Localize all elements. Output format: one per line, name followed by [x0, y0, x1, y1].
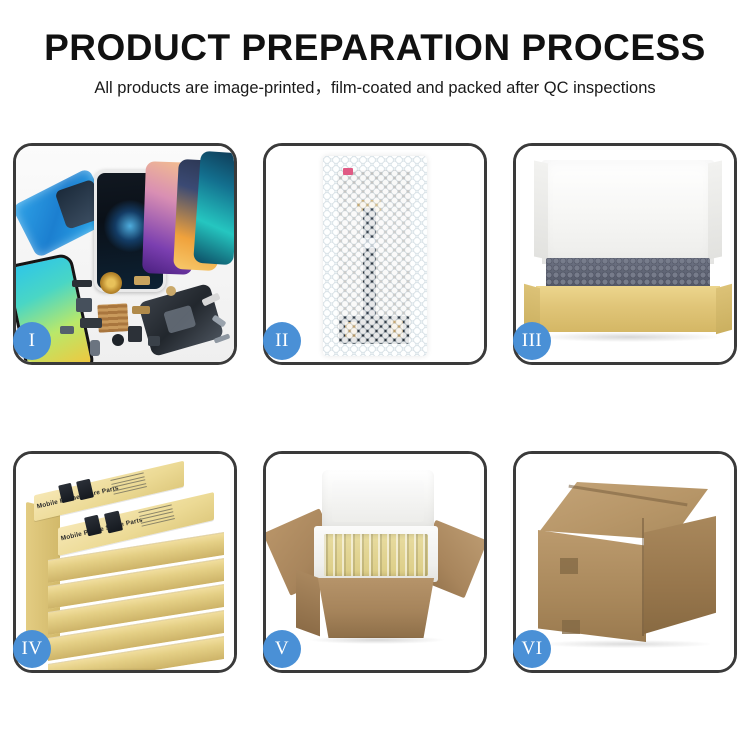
small-part-icon — [112, 334, 124, 346]
step-number-badge-2: II — [263, 322, 301, 360]
process-step-panel-6: VI — [513, 451, 737, 673]
small-part-icon — [72, 280, 92, 287]
small-part-icon — [128, 326, 142, 342]
bubble-texture — [323, 156, 427, 356]
step-number-badge-6: VI — [513, 630, 551, 668]
carton-front-face — [310, 578, 442, 638]
carton-tape-patch — [560, 558, 578, 574]
product-preparation-process-page: PRODUCT PREPARATION PROCESS All products… — [0, 0, 750, 750]
page-subtitle: All products are image-printed，film-coat… — [0, 79, 750, 99]
small-part-icon — [76, 298, 92, 312]
carton-vertical-edge — [642, 518, 644, 636]
sealed-carton-illustration — [516, 454, 734, 670]
process-step-panel-2: II — [263, 143, 487, 365]
small-part-icon — [90, 340, 100, 356]
small-part-icon — [80, 318, 102, 328]
step-number-badge-4: IV — [13, 630, 51, 668]
step-2-image — [266, 146, 484, 362]
chip-grid-part-icon — [97, 303, 128, 333]
coil-part-icon — [100, 272, 122, 294]
page-header: PRODUCT PREPARATION PROCESS All products… — [0, 28, 750, 98]
carton-right-face — [644, 516, 716, 634]
process-step-panel-4: Mobile Phone Spare Parts Mobile Phone Sp… — [13, 451, 237, 673]
small-part-icon — [132, 306, 150, 314]
box-shadow — [538, 332, 720, 342]
stack-shadow — [40, 668, 220, 670]
process-step-panel-5: V — [263, 451, 487, 673]
box-lid — [542, 160, 714, 264]
stacked-boxes-illustration: Mobile Phone Spare Parts Mobile Phone Sp… — [16, 454, 234, 670]
process-step-panel-1: I — [13, 143, 237, 365]
small-part-icon — [166, 286, 176, 296]
carton-shadow — [310, 636, 444, 644]
carton-shadow — [544, 640, 710, 648]
phones-and-parts-illustration — [16, 146, 234, 362]
packed-yellow-boxes — [324, 534, 428, 576]
process-steps-grid: I II — [13, 143, 737, 673]
pink-label-tab — [343, 168, 353, 175]
step-4-image: Mobile Phone Spare Parts Mobile Phone Sp… — [16, 454, 234, 670]
carton-side-face — [296, 570, 320, 637]
box-front-panel — [536, 286, 720, 332]
small-part-icon — [60, 326, 74, 334]
step-number-badge-3: III — [513, 322, 551, 360]
step-3-image — [516, 146, 734, 362]
process-step-panel-3: III — [513, 143, 737, 365]
small-part-icon — [134, 276, 150, 285]
open-box-illustration — [516, 146, 734, 362]
page-title: PRODUCT PREPARATION PROCESS — [0, 28, 750, 69]
step-number-badge-1: I — [13, 322, 51, 360]
teal-phone-icon — [193, 151, 234, 266]
bubble-wrap-bag — [323, 156, 427, 356]
bubble-wrap-illustration — [266, 146, 484, 362]
step-5-image — [266, 454, 484, 670]
carton-tape-patch — [562, 620, 580, 634]
small-part-icon — [148, 336, 160, 346]
carton-loading-illustration — [266, 454, 484, 670]
step-number-badge-5: V — [263, 630, 301, 668]
step-6-image — [516, 454, 734, 670]
step-1-image — [16, 146, 234, 362]
foam-cooler-lid — [322, 470, 434, 532]
carton-left-face — [538, 530, 646, 642]
